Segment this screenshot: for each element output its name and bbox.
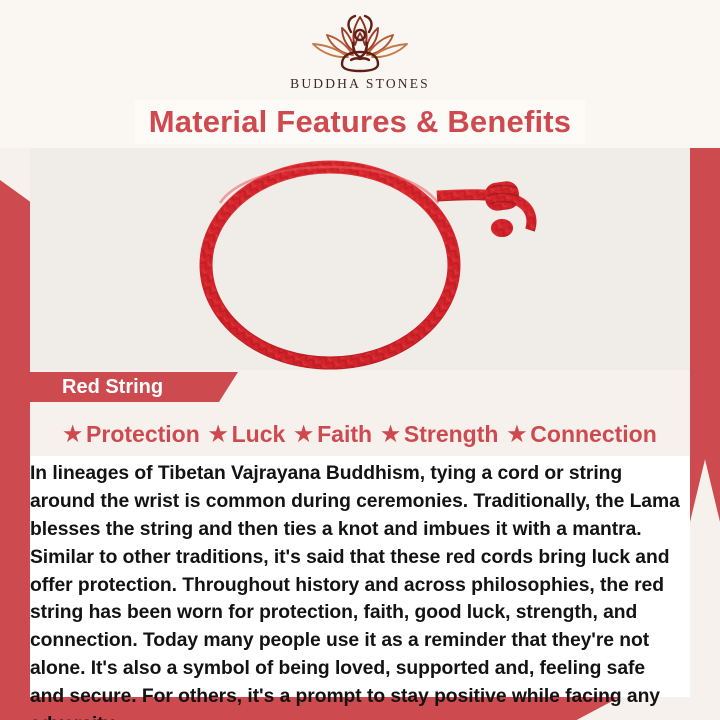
benefit-item: ★ Faith xyxy=(294,421,372,448)
product-label: Red String xyxy=(0,376,163,399)
benefit-label: Luck xyxy=(232,421,286,448)
poster-canvas: BUDDHA STONES Material Features & Benefi… xyxy=(0,0,720,720)
product-label-ribbon: Red String xyxy=(0,372,238,402)
benefit-label: Connection xyxy=(530,421,657,448)
product-image xyxy=(30,148,690,370)
benefit-label: Protection xyxy=(86,421,200,448)
brand-name: BUDDHA STONES xyxy=(0,76,720,92)
star-icon: ★ xyxy=(381,424,400,445)
red-string-bracelet-illustration xyxy=(30,148,690,370)
benefit-label: Faith xyxy=(317,421,372,448)
lotus-meditation-icon xyxy=(301,12,419,74)
page-title: Material Features & Benefits xyxy=(149,104,572,140)
benefit-item: ★ Connection xyxy=(507,421,656,448)
decor-band-left xyxy=(0,180,30,720)
description-text: In lineages of Tibetan Vajrayana Buddhis… xyxy=(30,460,680,720)
brand-logo: BUDDHA STONES xyxy=(0,12,720,92)
benefit-label: Strength xyxy=(404,421,499,448)
star-icon: ★ xyxy=(507,424,526,445)
header: BUDDHA STONES Material Features & Benefi… xyxy=(0,0,720,148)
benefit-item: ★ Luck xyxy=(209,421,286,448)
benefit-item: ★ Strength xyxy=(381,421,498,448)
star-icon: ★ xyxy=(294,424,313,445)
star-icon: ★ xyxy=(209,424,228,445)
benefits-list: ★ Protection ★ Luck ★ Faith ★ Strength ★… xyxy=(30,414,690,454)
star-icon: ★ xyxy=(63,424,82,445)
title-banner: Material Features & Benefits xyxy=(135,100,585,144)
benefit-item: ★ Protection xyxy=(63,421,200,448)
description-block: In lineages of Tibetan Vajrayana Buddhis… xyxy=(30,456,690,697)
